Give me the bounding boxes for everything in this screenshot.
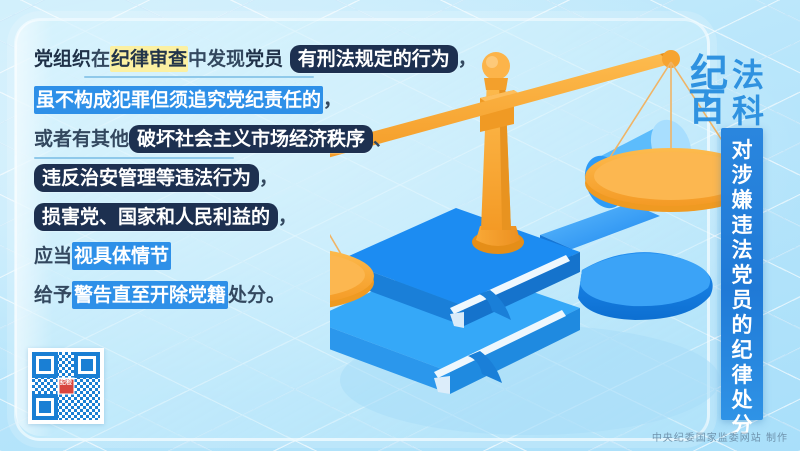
gavel-illustration xyxy=(540,114,713,320)
line1-seg5: 党员 xyxy=(245,48,283,70)
qr-seal-text: 纪检 xyxy=(59,379,73,393)
line5-pill: 损害党、国家和人民利益的 xyxy=(34,203,278,231)
line1-punct: ， xyxy=(458,48,477,70)
line2-punct: ， xyxy=(323,89,342,111)
statute-line-2: 虽不构成犯罪但须追究党纪责任的， xyxy=(34,85,504,115)
statute-text-block: 党组织在纪律审查中发现党员 有刑法规定的行为， 虽不构成犯罪但须追究党纪责任的，… xyxy=(34,44,504,319)
line3-seg1: 或者有其他 xyxy=(34,128,129,150)
statute-line-4: 违反治安管理等违法行为， xyxy=(34,163,504,193)
line5-punct: ， xyxy=(278,206,297,228)
line4-pill: 违反治安管理等违法行为 xyxy=(34,164,259,192)
qr-finder-bottom-left xyxy=(32,394,58,420)
statute-line-5: 损害党、国家和人民利益的， xyxy=(34,202,504,232)
statute-line-6: 应当视具体情节 xyxy=(34,241,504,271)
statute-line-1: 党组织在纪律审查中发现党员 有刑法规定的行为， xyxy=(34,44,504,74)
credit-line: 中央纪委国家监委网站 制作 xyxy=(652,429,788,444)
line1-seg4: 中发现 xyxy=(188,48,245,70)
play-triangle-icon xyxy=(705,94,715,108)
statute-line-3: 或者有其他破坏社会主义市场经济秩序、 xyxy=(34,124,504,154)
qr-finder-top-left xyxy=(32,352,58,378)
line7-highlight-blue: 警告直至开除党籍 xyxy=(72,281,228,309)
qr-code[interactable]: 纪检 xyxy=(28,348,104,424)
vertical-title-banner: 对涉嫌违法党员的纪律处分 xyxy=(721,128,763,420)
qr-finder-top-right xyxy=(74,352,100,378)
line1-pill: 有刑法规定的行为 xyxy=(290,45,458,73)
line3-underline xyxy=(34,157,234,159)
infographic-canvas: 党组织在纪律审查中发现党员 有刑法规定的行为， 虽不构成犯罪但须追究党纪责任的，… xyxy=(0,0,800,451)
line1-underline xyxy=(84,76,314,78)
line2-highlight-blue: 虽不构成犯罪但须追究党纪责任的 xyxy=(34,86,323,114)
statute-line-7: 给予警告直至开除党籍处分。 xyxy=(34,280,504,310)
line6-seg1: 应当 xyxy=(34,245,72,267)
line7-seg1: 给予 xyxy=(34,284,72,306)
line7-seg3: 处分。 xyxy=(228,284,285,306)
line1-highlight-yellow: 纪律审查 xyxy=(110,46,188,72)
line4-punct: ， xyxy=(259,167,278,189)
line3-pill: 破坏社会主义市场经济秩序 xyxy=(129,125,373,153)
brand-logo: 纪 法 百 科 xyxy=(688,42,792,138)
vertical-title-text: 对涉嫌违法党员的纪律处分 xyxy=(721,128,763,437)
logo-char-ke: 科 xyxy=(732,86,764,132)
qr-code-pattern: 纪检 xyxy=(32,352,100,420)
line1-seg1: 党组织 xyxy=(34,48,91,70)
line6-highlight-blue: 视具体情节 xyxy=(72,242,171,270)
line3-punct: 、 xyxy=(373,128,392,150)
qr-center-seal: 纪检 xyxy=(58,378,75,395)
line1-seg2: 在 xyxy=(91,48,110,70)
